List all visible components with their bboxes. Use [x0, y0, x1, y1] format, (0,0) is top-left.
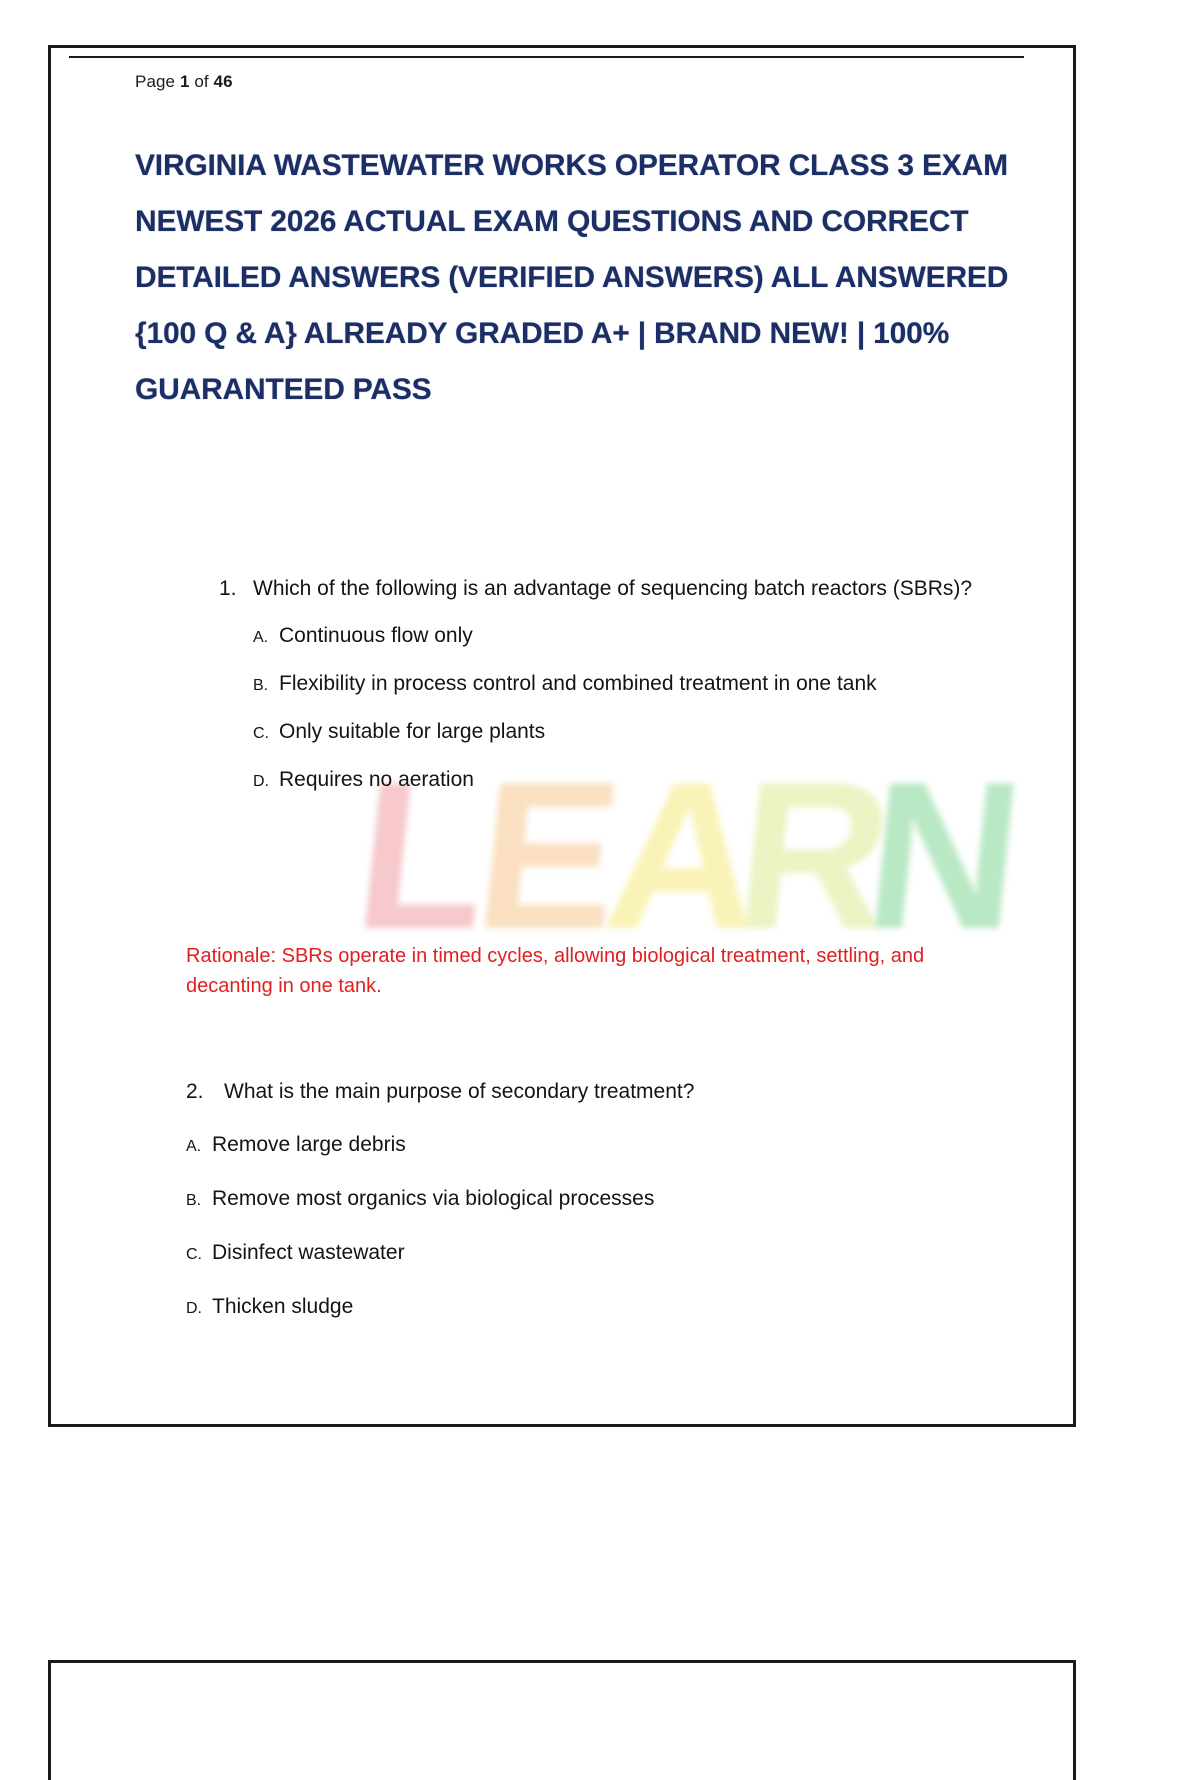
option-a[interactable]: A. Continuous flow only — [253, 621, 1076, 653]
option-letter: D. — [186, 1294, 212, 1324]
option-c[interactable]: C. Only suitable for large plants — [253, 717, 1076, 749]
option-c[interactable]: C. Disinfect wastewater — [186, 1238, 1066, 1270]
question-block-2: 2. What is the main purpose of secondary… — [186, 1076, 1066, 1324]
option-text: Only suitable for large plants — [279, 717, 1076, 747]
option-letter: B. — [186, 1186, 212, 1216]
option-b[interactable]: B. Flexibility in process control and co… — [253, 669, 1076, 701]
option-b[interactable]: B. Remove most organics via biological p… — [186, 1184, 1066, 1216]
option-text: Disinfect wastewater — [212, 1238, 1066, 1268]
rationale-text: Rationale: SBRs operate in timed cycles,… — [186, 941, 986, 1001]
option-letter: B. — [253, 671, 279, 701]
option-text: Remove large debris — [212, 1130, 1066, 1160]
question-line: 2. What is the main purpose of secondary… — [186, 1076, 1066, 1108]
option-text: Remove most organics via biological proc… — [212, 1184, 1066, 1214]
question-text: Which of the following is an advantage o… — [253, 573, 1076, 605]
document-page-2 — [48, 1660, 1076, 1780]
question-text: What is the main purpose of secondary tr… — [224, 1076, 1066, 1108]
option-text: Requires no aeration — [279, 765, 1076, 795]
option-text: Continuous flow only — [279, 621, 1076, 651]
question-line: 1. Which of the following is an advantag… — [219, 573, 1076, 605]
option-letter: C. — [186, 1240, 212, 1270]
document-page-1: Page 1 of 46 L E A R N VIRGINIA WASTEWAT… — [48, 45, 1076, 1427]
question-block-1: 1. Which of the following is an advantag… — [219, 573, 1076, 797]
option-a[interactable]: A. Remove large debris — [186, 1130, 1066, 1162]
option-d[interactable]: D. Thicken sludge — [186, 1292, 1066, 1324]
option-text: Flexibility in process control and combi… — [279, 669, 1076, 699]
option-letter: D. — [253, 767, 279, 797]
question-number: 1. — [219, 573, 253, 605]
option-letter: A. — [253, 623, 279, 653]
option-letter: C. — [253, 719, 279, 749]
rationale-block-1: Rationale: SBRs operate in timed cycles,… — [186, 941, 1006, 1001]
question-options: A. Remove large debris B. Remove most or… — [186, 1130, 1066, 1324]
question-options: A. Continuous flow only B. Flexibility i… — [253, 621, 1076, 797]
option-letter: A. — [186, 1132, 212, 1162]
question-number: 2. — [186, 1076, 224, 1108]
page-title: VIRGINIA WASTEWATER WORKS OPERATOR CLASS… — [135, 138, 1025, 418]
option-d[interactable]: D. Requires no aeration — [253, 765, 1076, 797]
option-text: Thicken sludge — [212, 1292, 1066, 1322]
